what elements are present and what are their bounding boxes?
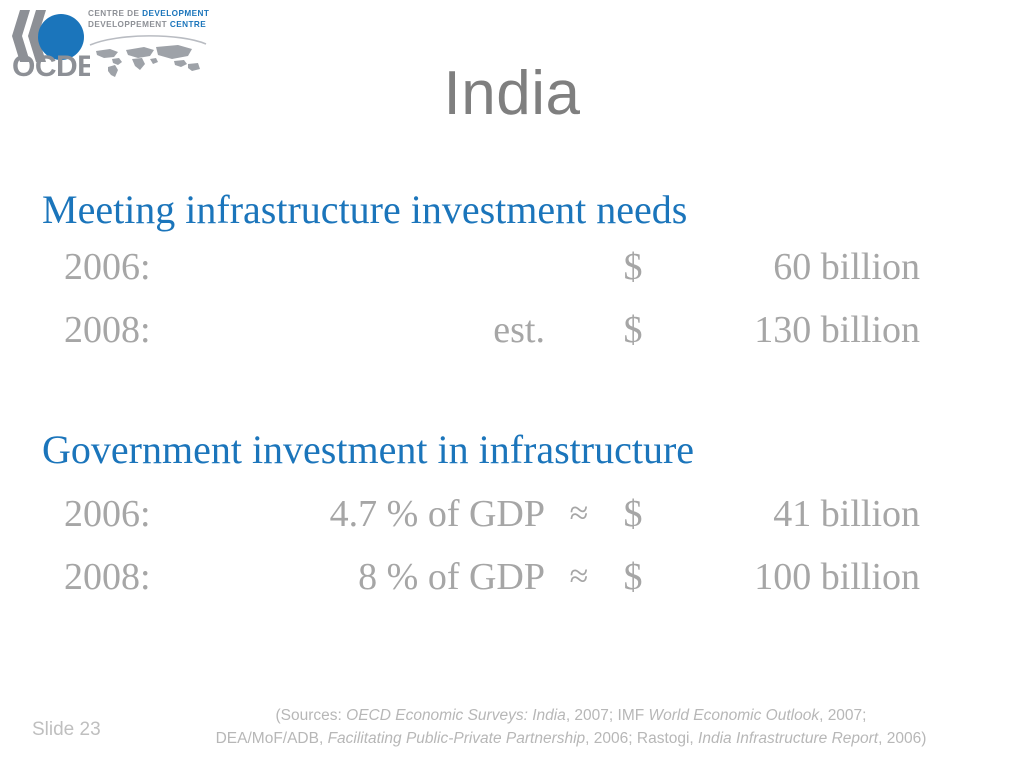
row-note: 8 % of GDP (210, 554, 545, 600)
row-year: 2008: (64, 307, 151, 353)
row-year: 2006: (64, 244, 151, 290)
row-year: 2006: (64, 491, 151, 537)
sources-line-2: DEA/MoF/ADB, Facilitating Public-Private… (150, 727, 992, 750)
slide-content: Meeting infrastructure investment needs … (0, 0, 1024, 768)
row-amount: 41 billion (648, 491, 920, 537)
table-row: 2006: $ 60 billion (0, 244, 1024, 290)
sources-l1-p2: , 2007; IMF (566, 707, 649, 724)
sources-l2-i1: Facilitating Public-Private Partnership (328, 730, 586, 747)
sources-l1-p3: , 2007; (819, 707, 866, 724)
sources-l1-p1: (Sources: (276, 707, 347, 724)
sources-l1-i2: World Economic Outlook (649, 707, 820, 724)
row-note: 4.7 % of GDP (210, 491, 545, 537)
row-currency: $ (618, 307, 648, 353)
sources-l2-i2: India Infrastructure Report (698, 730, 878, 747)
sources-note: (Sources: OECD Economic Surveys: India, … (150, 704, 992, 750)
row-approx: ≈ (556, 491, 602, 537)
row-currency: $ (618, 244, 648, 290)
row-note: est. (210, 307, 545, 353)
sources-l1-i1: OECD Economic Surveys: India (346, 707, 566, 724)
sources-l2-p1: DEA/MoF/ADB, (216, 730, 328, 747)
slide-number: Slide 23 (32, 718, 101, 742)
row-amount: 60 billion (648, 244, 920, 290)
row-amount: 130 billion (648, 307, 920, 353)
row-approx: ≈ (556, 554, 602, 600)
row-currency: $ (618, 491, 648, 537)
section-heading-investment-needs: Meeting infrastructure investment needs (42, 188, 687, 232)
sources-l2-p2: , 2006; Rastogi, (585, 730, 698, 747)
row-year: 2008: (64, 554, 151, 600)
table-row: 2006: 4.7 % of GDP ≈ $ 41 billion (0, 491, 1024, 537)
row-currency: $ (618, 554, 648, 600)
sources-line-1: (Sources: OECD Economic Surveys: India, … (150, 704, 992, 727)
table-row: 2008: est. $ 130 billion (0, 307, 1024, 353)
table-row: 2008: 8 % of GDP ≈ $ 100 billion (0, 554, 1024, 600)
sources-l2-p3: , 2006) (878, 730, 926, 747)
section-heading-government-investment: Government investment in infrastructure (42, 428, 694, 472)
row-amount: 100 billion (648, 554, 920, 600)
